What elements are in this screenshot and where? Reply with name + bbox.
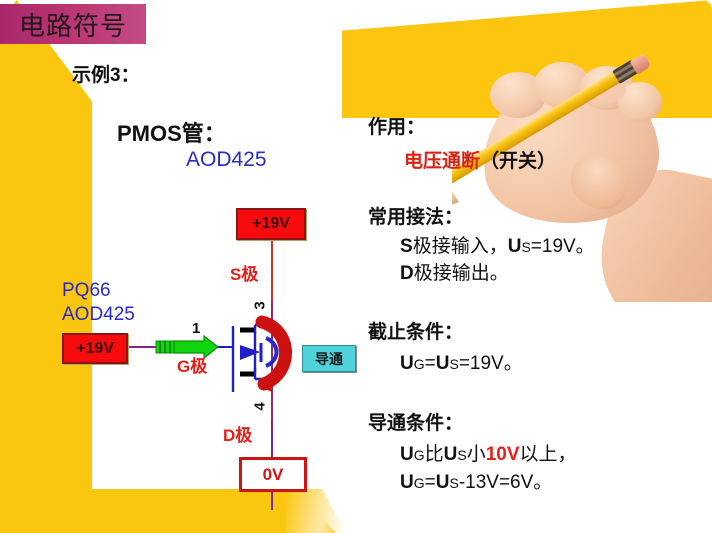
wiring-line2-pre: D (400, 263, 414, 284)
supply-top-label: +19V (252, 215, 290, 233)
cond-l2-u1: U (400, 472, 414, 493)
pmos-title: PMOS管： (117, 116, 226, 148)
function-value: 电压通断（开关） (404, 146, 556, 173)
ground-label: 0V (263, 465, 284, 485)
wiring-line1-mid: 极接输入， (413, 236, 508, 257)
cond-l2-eq: = (425, 472, 436, 493)
cond-l1-u1-sub: G (414, 447, 425, 463)
resistor-icon (156, 341, 174, 353)
cond-l1-highlight: 10V (486, 444, 520, 465)
conduction-line-2: UG=US-13V=6V。 (400, 467, 552, 494)
gate-label: G极 (177, 352, 207, 377)
pin-number-drain: 4 (252, 402, 269, 410)
cutoff-heading: 截止条件： (368, 317, 463, 344)
ground-box: 0V (239, 457, 307, 492)
function-heading: 作用： (368, 112, 425, 139)
wiring-line2-post: 极接输出。 (414, 263, 509, 284)
cutoff-u2-sub: S (449, 356, 458, 372)
left-part-line1: PQ66 (62, 279, 135, 303)
cutoff-u1: U (400, 353, 414, 374)
cond-l2-u2: U (436, 472, 450, 493)
wiring-line1-sub: S (521, 239, 530, 255)
cond-l1-u2: U (444, 444, 458, 465)
body-diode-arrow-icon (240, 343, 261, 362)
pin-number-source: 3 (252, 301, 269, 309)
conduction-heading: 导通条件： (368, 408, 463, 435)
supply-left-box: +19V (62, 333, 128, 364)
function-value-black: （开关） (480, 151, 556, 172)
cond-l2-u1-sub: G (414, 475, 425, 491)
wiring-line1-post: =19V。 (531, 236, 595, 257)
cond-l1-u2-sub: S (457, 447, 466, 463)
example-label: 示例3： (72, 60, 140, 87)
yellow-bottom-band-decoration (0, 489, 336, 533)
slide-title-text: 电路符号 (19, 6, 127, 43)
slide-canvas: 电路符号 示例3： PMOS管： AOD425 (0, 0, 712, 533)
cutoff-u2: U (436, 353, 450, 374)
drain-label: D极 (223, 421, 252, 446)
cutoff-formula: UG=US=19V。 (400, 348, 523, 375)
wiring-line1-u: U (508, 236, 522, 257)
cond-l1-u1: U (400, 444, 414, 465)
wiring-line-2: D极接输出。 (400, 258, 509, 285)
cond-l2-u2-sub: S (449, 475, 458, 491)
wiring-line1-pre: S (400, 236, 413, 257)
conduction-state-badge: 导通 (302, 345, 356, 372)
cutoff-eq: = (425, 353, 436, 374)
yellow-bottom-fade-decoration (286, 489, 346, 533)
cond-l2-tail: -13V=6V。 (459, 472, 552, 493)
cond-l1-tail: 以上， (520, 444, 577, 465)
supply-top-box: +19V (236, 208, 306, 240)
pin-number-gate: 1 (192, 320, 200, 337)
current-flow-arrow-icon (258, 322, 286, 392)
left-part-designator: PQ66 AOD425 (62, 279, 135, 327)
supply-left-label: +19V (76, 340, 114, 358)
cond-l1-mid1: 比 (425, 444, 444, 465)
slide-title-badge: 电路符号 (0, 4, 146, 44)
cond-l1-mid2: 小 (467, 444, 486, 465)
left-part-line2: AOD425 (62, 303, 135, 327)
cutoff-tail: =19V。 (459, 353, 523, 374)
cutoff-u1-sub: G (414, 356, 425, 372)
mosfet-symbol-icon (233, 325, 272, 392)
conduction-state-label: 导通 (315, 349, 343, 369)
conduction-line-1: UG比US小10V以上， (400, 439, 577, 466)
source-label: S极 (230, 260, 258, 285)
wiring-line-1: S极接输入，US=19V。 (400, 231, 595, 258)
function-value-red: 电压通断 (404, 151, 480, 172)
pmos-part-number: AOD425 (186, 148, 267, 172)
wiring-heading: 常用接法： (368, 202, 463, 229)
